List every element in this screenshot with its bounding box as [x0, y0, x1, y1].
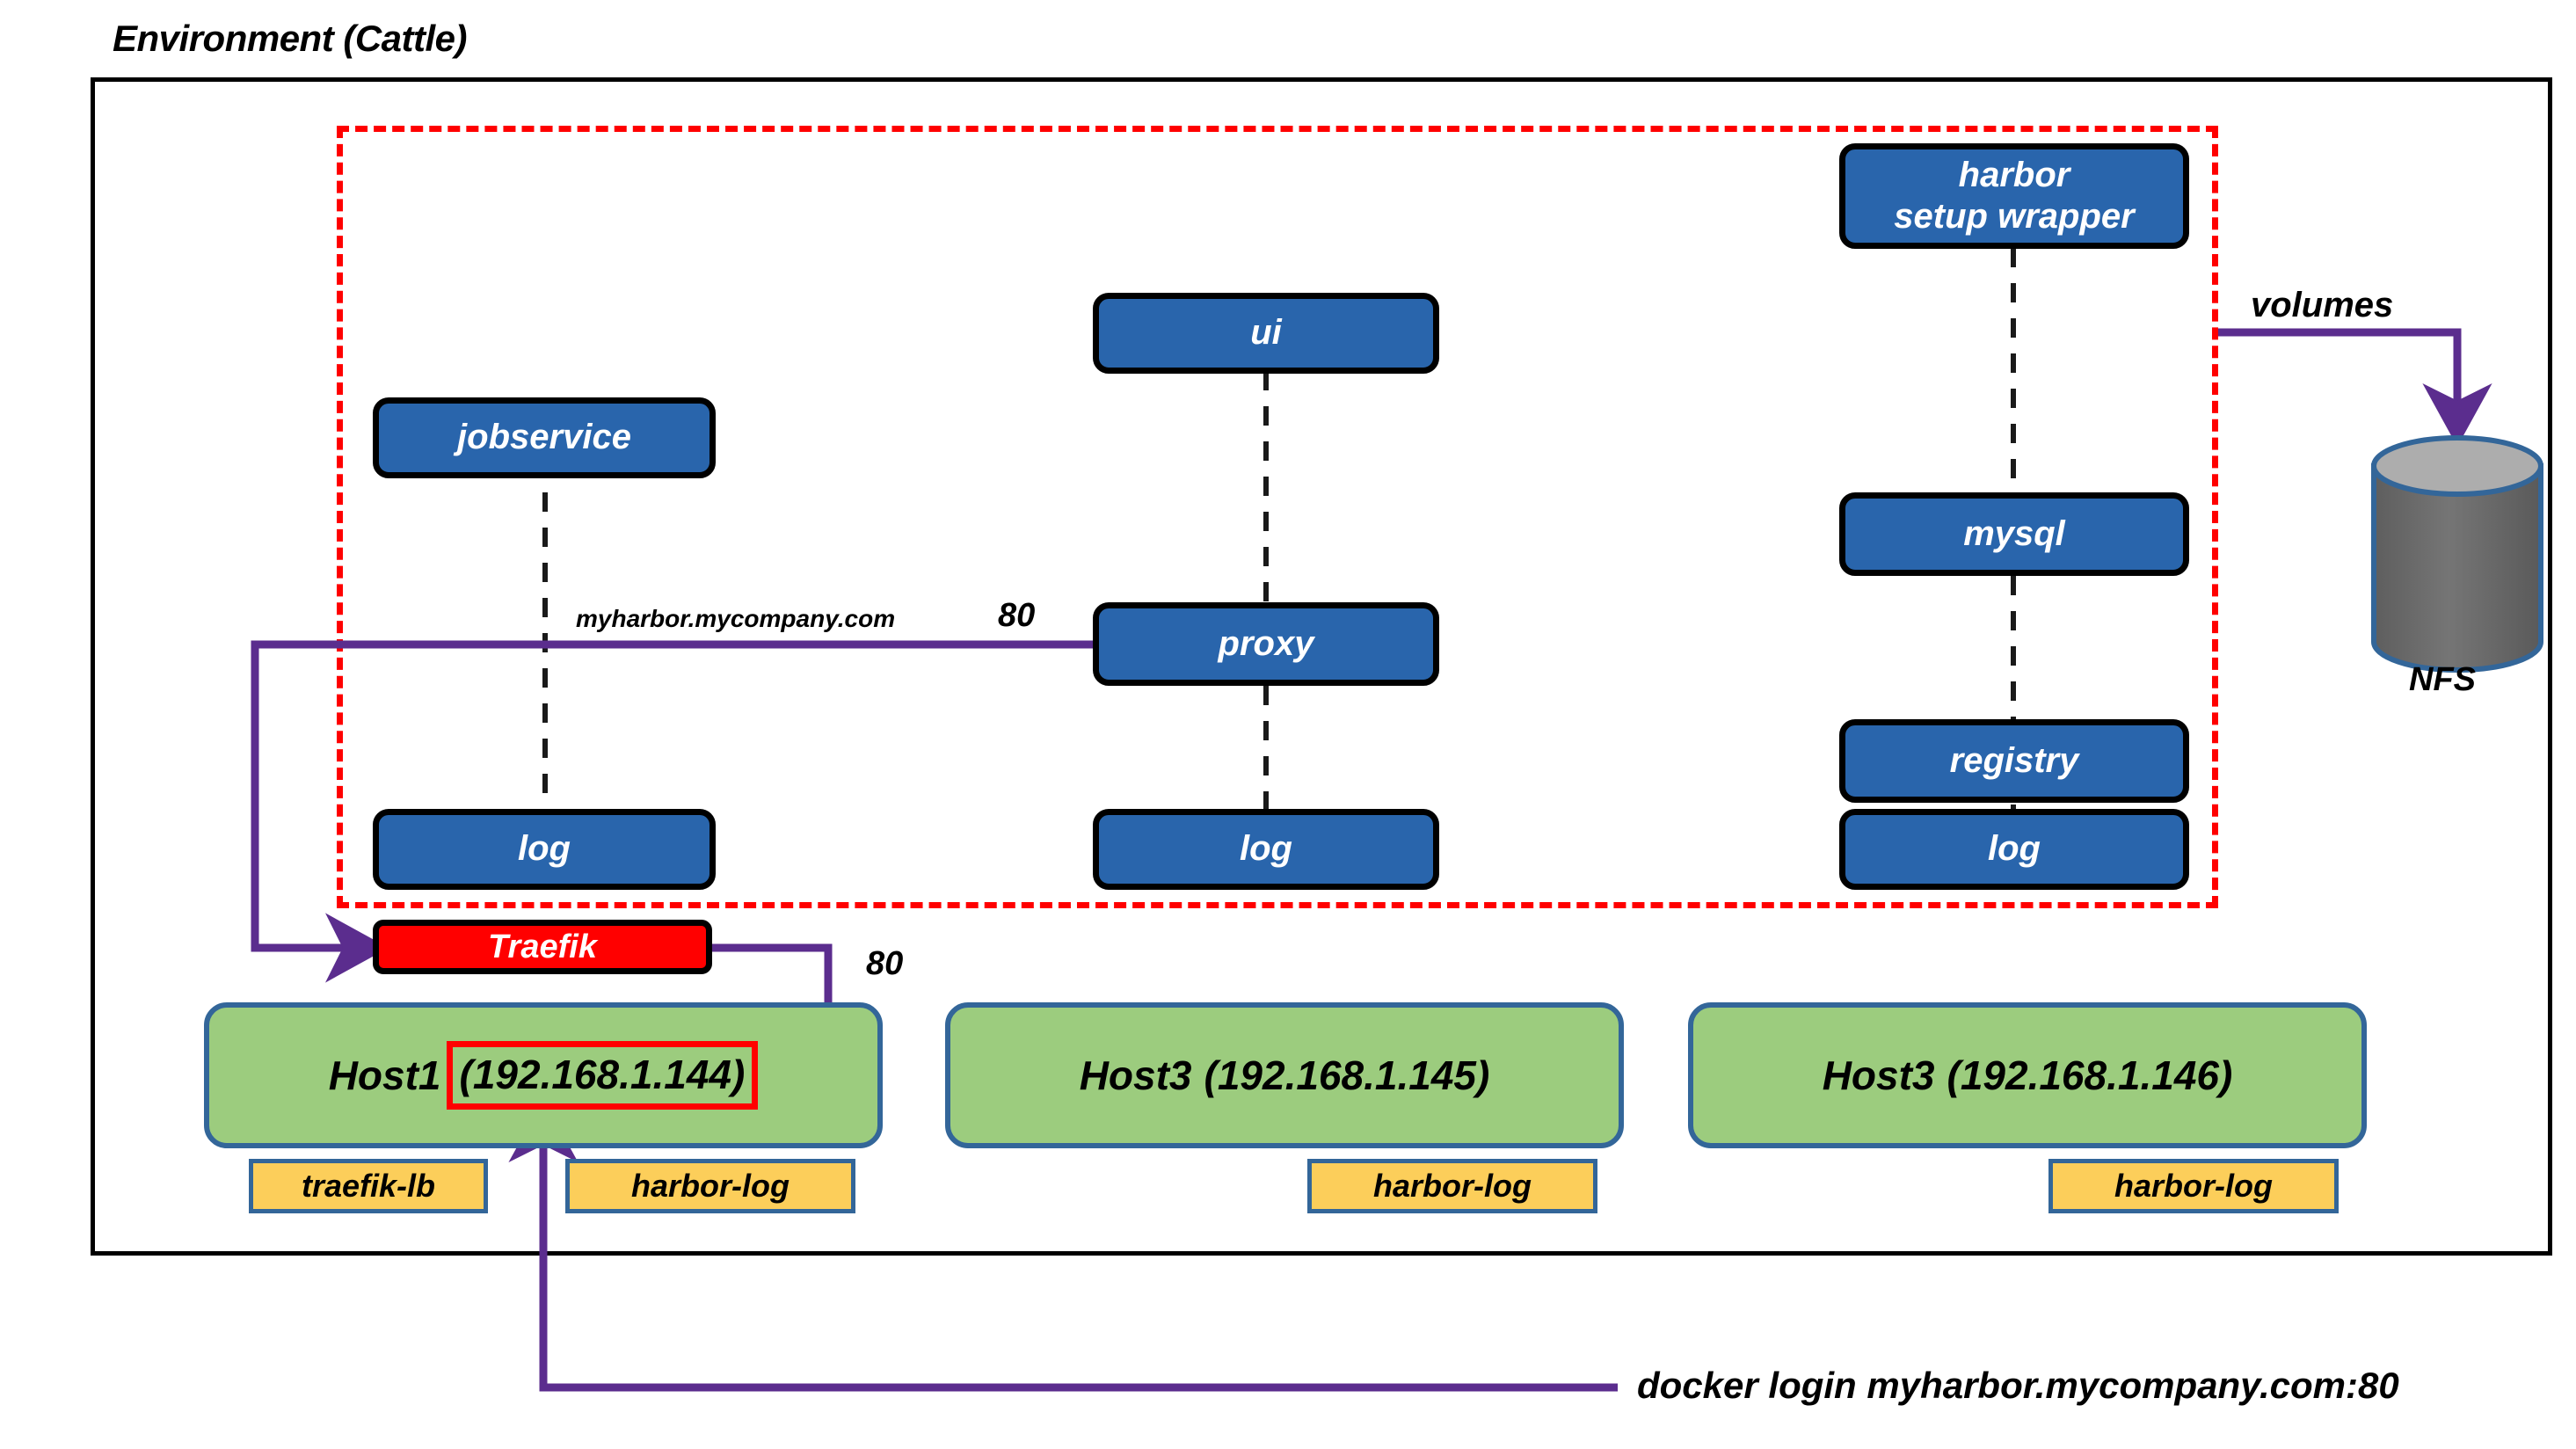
stack-chip-traefik-lb[interactable]: traefik-lb	[249, 1159, 488, 1213]
service-node-ui[interactable]: ui	[1093, 293, 1439, 374]
host-card-host2[interactable]: Host3 (192.168.1.145)	[945, 1002, 1624, 1148]
service-node-log-right[interactable]: log	[1839, 809, 2189, 890]
host2-ip: (192.168.1.145)	[1204, 1052, 1490, 1099]
service-node-registry[interactable]: registry	[1839, 719, 2189, 803]
host1-ip-highlight: (192.168.1.144)	[447, 1041, 759, 1110]
service-node-harbor-setup-wrapper[interactable]: harbor setup wrapper	[1839, 143, 2189, 249]
service-node-jobservice[interactable]: jobservice	[373, 397, 716, 478]
diagram-canvas: Environment (Cattle)	[0, 0, 2576, 1449]
port-annotation-proxy: 80	[998, 597, 1035, 635]
service-node-log-left[interactable]: log	[373, 809, 716, 890]
environment-title: Environment (Cattle)	[113, 18, 467, 60]
host1-name: Host1	[329, 1052, 441, 1099]
service-node-mysql[interactable]: mysql	[1839, 492, 2189, 576]
host2-name: Host3	[1080, 1052, 1192, 1099]
host-card-host3[interactable]: Host3 (192.168.1.146)	[1688, 1002, 2367, 1148]
stack-chip-harbor-log-host2[interactable]: harbor-log	[1307, 1159, 1597, 1213]
port-annotation-traefik: 80	[866, 945, 903, 983]
stack-chip-harbor-log-host3[interactable]: harbor-log	[2048, 1159, 2339, 1213]
service-node-log-middle[interactable]: log	[1093, 809, 1439, 890]
host-card-host1[interactable]: Host1 (192.168.1.144)	[204, 1002, 883, 1148]
volumes-annotation: volumes	[2251, 286, 2393, 325]
host3-name: Host3	[1823, 1052, 1935, 1099]
service-node-proxy[interactable]: proxy	[1093, 602, 1439, 686]
load-balancer-traefik[interactable]: Traefik	[373, 920, 712, 974]
nfs-label: NFS	[2409, 661, 2476, 699]
hostname-annotation: myharbor.mycompany.com	[576, 605, 895, 633]
docker-login-annotation: docker login myharbor.mycompany.com:80	[1637, 1365, 2399, 1407]
stack-chip-harbor-log-host1[interactable]: harbor-log	[565, 1159, 855, 1213]
host3-ip: (192.168.1.146)	[1947, 1052, 2233, 1099]
